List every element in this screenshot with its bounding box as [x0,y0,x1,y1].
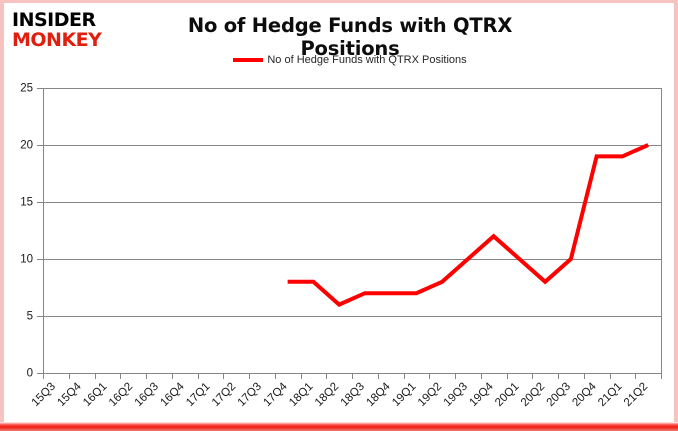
x-tick-label-15Q4: 15Q4 [55,380,84,409]
y-tick-label-0: 0 [27,368,33,380]
plot-area: 0510152025 15Q315Q416Q116Q216Q316Q417Q11… [0,0,678,431]
x-tick-label-17Q2: 17Q2 [210,381,238,409]
x-tick-label-18Q4: 18Q4 [364,380,393,409]
x-tick-label-19Q2: 19Q2 [416,381,444,409]
x-tick-label-16Q4: 16Q4 [158,380,187,409]
x-tick-label-15Q3: 15Q3 [30,381,58,409]
chart-svg: 0510152025 15Q315Q416Q116Q216Q316Q417Q11… [0,0,678,431]
x-tick-label-16Q2: 16Q2 [107,381,135,409]
y-axis-ticks-group [37,89,43,374]
y-tick-label-20: 20 [20,140,33,152]
x-tick-label-19Q1: 19Q1 [390,381,418,409]
x-tick-label-21Q1: 21Q1 [596,381,624,409]
x-tick-label-20Q1: 20Q1 [493,381,521,409]
data-series-group [288,145,649,305]
x-tick-label-19Q3: 19Q3 [442,381,470,409]
x-axis-labels-group: 15Q315Q416Q116Q216Q316Q417Q117Q217Q317Q4… [30,380,651,409]
x-tick-label-16Q1: 16Q1 [81,381,109,409]
y-tick-label-10: 10 [20,254,33,266]
x-tick-label-17Q1: 17Q1 [184,381,212,409]
x-tick-label-20Q3: 20Q3 [545,381,573,409]
x-tick-label-20Q4: 20Q4 [570,380,599,409]
chart-page: INSIDER MONKEY No of Hedge Funds with QT… [0,0,678,431]
y-axis-labels-group: 0510152025 [20,83,33,380]
x-tick-label-18Q2: 18Q2 [313,381,341,409]
y-tick-label-15: 15 [20,197,33,209]
x-tick-label-18Q1: 18Q1 [287,381,315,409]
series-line-0 [288,145,649,305]
x-tick-label-17Q3: 17Q3 [236,381,264,409]
x-tick-label-20Q2: 20Q2 [519,381,547,409]
gridlines-group [43,88,662,374]
x-tick-label-16Q3: 16Q3 [133,381,161,409]
x-tick-label-18Q3: 18Q3 [339,381,367,409]
x-tick-label-19Q4: 19Q4 [467,380,496,409]
x-tick-label-21Q2: 21Q2 [622,381,650,409]
x-tick-label-17Q4: 17Q4 [261,380,290,409]
y-tick-label-25: 25 [20,83,33,95]
y-tick-label-5: 5 [27,311,33,323]
